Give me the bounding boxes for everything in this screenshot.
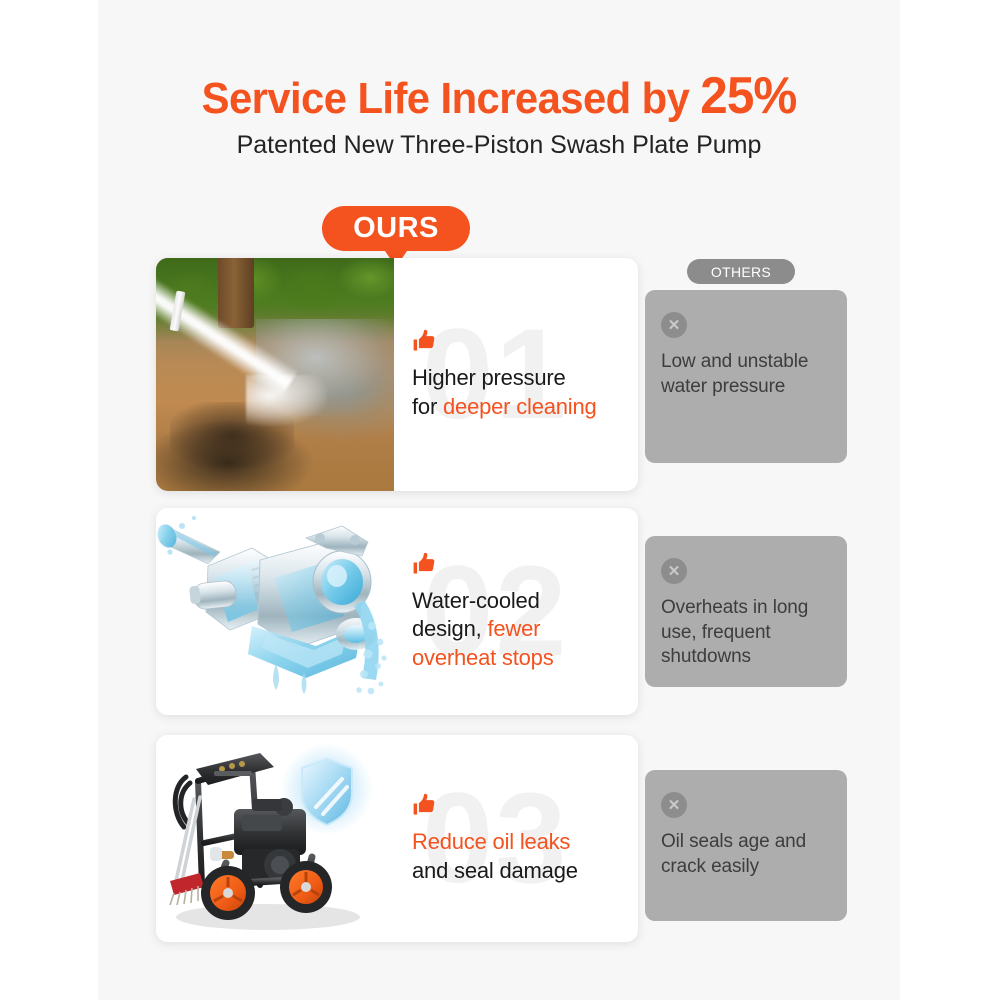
water-cooled-pump-illustration xyxy=(156,508,394,715)
x-circle-icon: ✕ xyxy=(661,792,687,818)
card-text-line2: and seal damage xyxy=(412,858,578,883)
card-text: Higher pressure for deeper cleaning xyxy=(412,364,628,421)
card-text-line2-plain: design, xyxy=(412,616,487,641)
others-text: Low and unstable water pressure xyxy=(661,350,829,399)
ours-badge-label: OURS xyxy=(353,212,439,245)
others-text: Oil seals age and crack easily xyxy=(661,830,829,879)
card-text: Water-cooled design, fewer overheat stop… xyxy=(412,587,628,673)
x-circle-icon: ✕ xyxy=(661,558,687,584)
headline-value: 25% xyxy=(700,67,796,125)
card-text-line3-accent: overheat stops xyxy=(412,645,554,670)
card-text-line2-plain: for xyxy=(412,394,443,419)
others-badge: OTHERS xyxy=(687,259,795,284)
content-canvas: Service Life Increased by 25% Patented N… xyxy=(98,0,900,1000)
card-text-line1-accent: Reduce oil leaks xyxy=(412,829,570,854)
card-text-line1: Higher pressure xyxy=(412,365,566,390)
card-body: 03 Reduce oil leaks and seal damage xyxy=(394,735,638,942)
headline-prefix: Service Life Increased by xyxy=(202,74,701,123)
others-text: Overheats in long use, frequent shutdown… xyxy=(661,596,829,670)
thumbs-up-icon xyxy=(412,328,438,354)
pressure-washer-with-shield-illustration xyxy=(156,735,394,942)
ours-card: 01 Higher pressure for deeper cleaning xyxy=(156,258,638,491)
card-text: Reduce oil leaks and seal damage xyxy=(412,828,628,885)
ours-card: 02 Water-cooled design, fewer overheat s… xyxy=(156,508,638,715)
page-title: Service Life Increased by 25% xyxy=(118,66,880,126)
card-body: 02 Water-cooled design, fewer overheat s… xyxy=(394,508,638,715)
page-subtitle: Patented New Three-Piston Swash Plate Pu… xyxy=(98,131,900,160)
card-image-water-spray xyxy=(156,258,394,491)
card-body: 01 Higher pressure for deeper cleaning xyxy=(394,258,638,491)
thumbs-up-icon xyxy=(412,792,438,818)
card-text-line2-accent: deeper cleaning xyxy=(443,394,597,419)
thumbs-up-icon xyxy=(412,551,438,577)
card-text-line2-accent: fewer xyxy=(487,616,540,641)
others-card: ✕ Low and unstable water pressure xyxy=(645,290,847,463)
ours-badge: OURS xyxy=(322,206,470,251)
water-spray-photo xyxy=(156,258,394,491)
photo-wood-post xyxy=(218,258,254,328)
others-card: ✕ Overheats in long use, frequent shutdo… xyxy=(645,536,847,687)
x-circle-icon: ✕ xyxy=(661,312,687,338)
photo-splash xyxy=(246,375,327,426)
ours-card: 03 Reduce oil leaks and seal damage xyxy=(156,735,638,942)
others-badge-label: OTHERS xyxy=(711,264,771,280)
others-card: ✕ Oil seals age and crack easily xyxy=(645,770,847,921)
card-text-line1: Water-cooled xyxy=(412,588,540,613)
infographic-page: Service Life Increased by 25% Patented N… xyxy=(0,0,1000,1000)
card-image-pump xyxy=(156,508,394,715)
card-image-machine xyxy=(156,735,394,942)
